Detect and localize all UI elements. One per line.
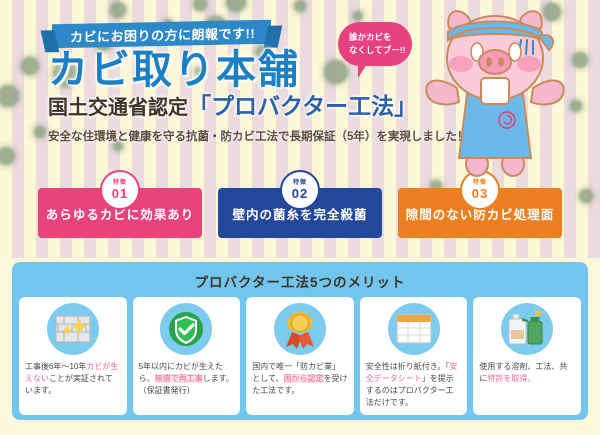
page-title: カビ取り本舗 [48, 50, 300, 90]
sparkling-wall-icon [47, 303, 99, 355]
mold-spot-icon [324, 60, 348, 84]
merit-card[interactable]: 工事後6年〜10年カビが生えないことが実証されています。 [19, 297, 127, 415]
merit-card[interactable]: 使用する溶剤、工法、共に特許を取得。 [473, 297, 581, 415]
merit-card-text: 国内で唯一「防カビ業」として、国から認定を受けた工法です。 [252, 361, 348, 397]
mold-spot-icon [21, 57, 39, 75]
feature-box-02[interactable]: 特徴02壁内の菌糸を完全殺菌 [218, 188, 382, 238]
merit-card[interactable]: 安全性は折り紙付き。「安全データシート」を提示するのはプロバクター工法だけです。 [360, 297, 468, 415]
mold-spot-icon [110, 2, 126, 18]
mold-spot-icon [0, 147, 15, 165]
merit-text-part: 安全性は折り紙付き。「 [366, 362, 450, 371]
merits-title: プロバクター工法5つのメリット [12, 262, 588, 291]
feature-badge-number: 02 [292, 187, 308, 200]
pig-mascot-icon [415, 2, 575, 178]
mold-spot-icon [0, 85, 19, 107]
merit-text-part: 国から認定 [284, 374, 324, 383]
feature-box-01[interactable]: 特徴01あらゆるカビに効果あり [38, 188, 202, 238]
subtitle-method-name: 「プロバクター工法」 [188, 93, 417, 119]
announcement-ribbon: カビにお困りの方に朗報です!! [52, 20, 271, 49]
mold-spot-icon [353, 11, 363, 21]
mold-spot-icon [193, 0, 207, 11]
gold-medal-ribbon-icon [274, 303, 326, 355]
merits-panel: プロバクター工法5つのメリット 工事後6年〜10年カビが生えないことが実証されて… [12, 262, 588, 420]
speech-line-1: 誰かカビを [349, 31, 412, 44]
merit-card-text: 工事後6年〜10年カビが生えないことが実証されています。 [25, 361, 121, 397]
mascot-speech-bubble: 誰かカビを なくしてブー!! [338, 22, 412, 66]
merit-card-text: 安全性は折り紙付き。「安全データシート」を提示するのはプロバクター工法だけです。 [366, 361, 462, 409]
subtitle-certification: 国土交通省認定 [48, 97, 188, 119]
mold-spot-icon [34, 126, 46, 138]
merit-text-part: カビが [86, 362, 110, 371]
feature-badge-01: 特徴01 [100, 170, 140, 210]
ribbon-label: カビにお困りの方に朗報です!! [70, 23, 255, 46]
mold-spot-icon [226, 0, 246, 12]
page-subtitle: 国土交通省認定「プロバクター工法」 [48, 95, 417, 118]
feature-badge-number: 03 [472, 187, 488, 200]
merit-text-part: 工事後6年〜10年 [25, 362, 86, 371]
merit-cards-row: 工事後6年〜10年カビが生えないことが実証されています。5年以内にカビが生えたら… [12, 291, 588, 415]
merit-text-part: 特許を取得。 [487, 374, 535, 383]
green-shield-check-icon [160, 303, 212, 355]
speech-line-2: なくしてブー!! [349, 44, 412, 57]
data-sheet-table-icon [388, 303, 440, 355]
solvent-spray-bottles-icon [501, 303, 553, 355]
feature-badge-number: 01 [112, 187, 128, 200]
merit-card[interactable]: 5年以内にカビが生えたら、無償で再工事します。（保証書発行） [133, 297, 241, 415]
merit-card-text: 使用する溶剤、工法、共に特許を取得。 [479, 361, 575, 385]
mold-spot-icon [294, 0, 306, 12]
feature-badge-02: 特徴02 [280, 170, 320, 210]
features-row: 特徴01あらゆるカビに効果あり特徴02壁内の菌糸を完全殺菌特徴03隙間のない防カ… [0, 170, 600, 240]
merit-card[interactable]: 国内で唯一「防カビ業」として、国から認定を受けた工法です。 [246, 297, 354, 415]
merit-card-text: 5年以内にカビが生えたら、無償で再工事します。（保証書発行） [139, 361, 235, 397]
feature-box-03[interactable]: 特徴03隙間のない防カビ処理面 [398, 188, 562, 238]
page-root: カビにお困りの方に朗報です!! カビ取り本舗 国土交通省認定「プロバクター工法」… [0, 0, 600, 435]
merit-text-part: 無償で再工事 [155, 374, 203, 383]
hero-lede: 安全な住環境と健康を守る抗菌・防カビ工法で長期保証（5年）を実現しました！ [48, 128, 468, 144]
